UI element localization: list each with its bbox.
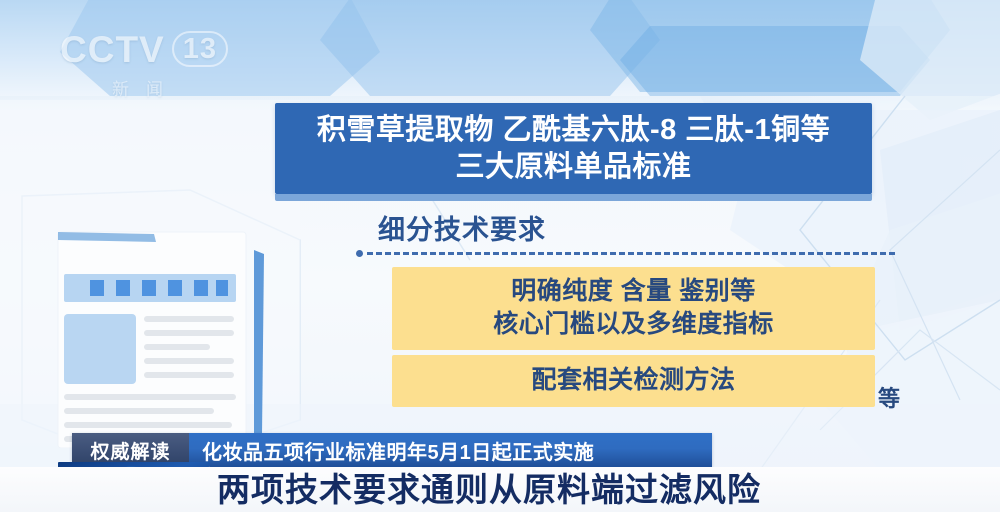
callout-box-purity: 明确纯度 含量 鉴别等 核心门槛以及多维度指标 <box>392 267 875 350</box>
callout-1-line-1: 明确纯度 含量 鉴别等 <box>402 275 865 308</box>
ticker-headline: 化妆品五项行业标准明年5月1日起正式实施 <box>189 433 712 467</box>
callout-2-line-1: 配套相关检测方法 <box>402 364 865 397</box>
broadcast-graphic-stage: CCTV13 新闻 <box>0 0 1000 512</box>
document-icon <box>44 196 306 448</box>
callout-1-line-2: 核心门槛以及多维度指标 <box>402 308 865 341</box>
bottom-headline: 两项技术要求通则从原料端过滤风险 <box>217 469 761 511</box>
main-banner-line-1: 积雪草提取物 乙酰基六肽-8 三肽-1铜等 <box>291 112 856 149</box>
channel-sub-label: 新闻 <box>112 75 240 100</box>
divider-dashes <box>367 252 895 255</box>
channel-number-badge: 13 <box>172 31 228 67</box>
main-banner: 积雪草提取物 乙酰基六肽-8 三肽-1铜等 三大原料单品标准 <box>275 103 872 194</box>
section-divider <box>356 250 895 257</box>
cctv-logo-text: CCTV <box>60 29 165 70</box>
divider-dot <box>356 250 363 257</box>
etc-mark: 等 <box>878 381 900 413</box>
document-illustration <box>44 196 306 448</box>
channel-watermark: CCTV13 新闻 <box>60 28 240 108</box>
main-banner-line-2: 三大原料单品标准 <box>291 149 856 186</box>
section-heading: 细分技术要求 <box>378 208 546 247</box>
cctv-logo: CCTV13 <box>60 28 240 72</box>
callout-box-testing: 配套相关检测方法 <box>392 355 875 407</box>
